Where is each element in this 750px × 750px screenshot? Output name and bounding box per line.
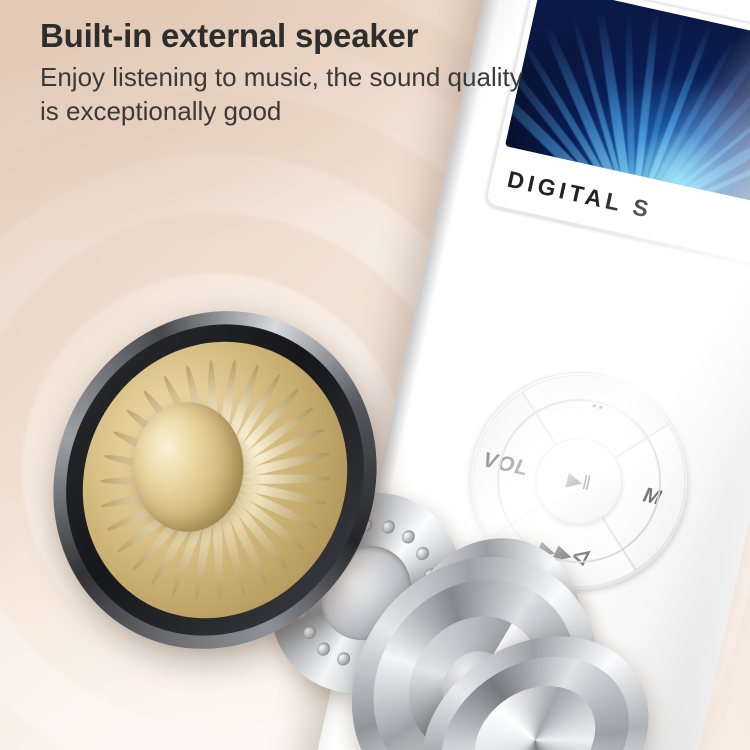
copy-block: Built-in external speaker Enjoy listenin… xyxy=(40,18,560,129)
page-subtitle: Enjoy listening to music, the sound qual… xyxy=(40,61,540,129)
page-title: Built-in external speaker xyxy=(40,18,560,55)
promo-banner: DIGITAL S M▶▶ᐊVOLᐧᐧ ▶‖ xyxy=(0,0,750,750)
washer-hole xyxy=(317,641,332,657)
washer-hole xyxy=(302,625,317,641)
play-pause-icon: ▶‖ xyxy=(565,466,594,496)
washer-hole xyxy=(336,651,351,667)
washer-hole xyxy=(400,528,415,544)
screen-light-streaks xyxy=(541,0,750,45)
washer-hole xyxy=(415,545,430,561)
